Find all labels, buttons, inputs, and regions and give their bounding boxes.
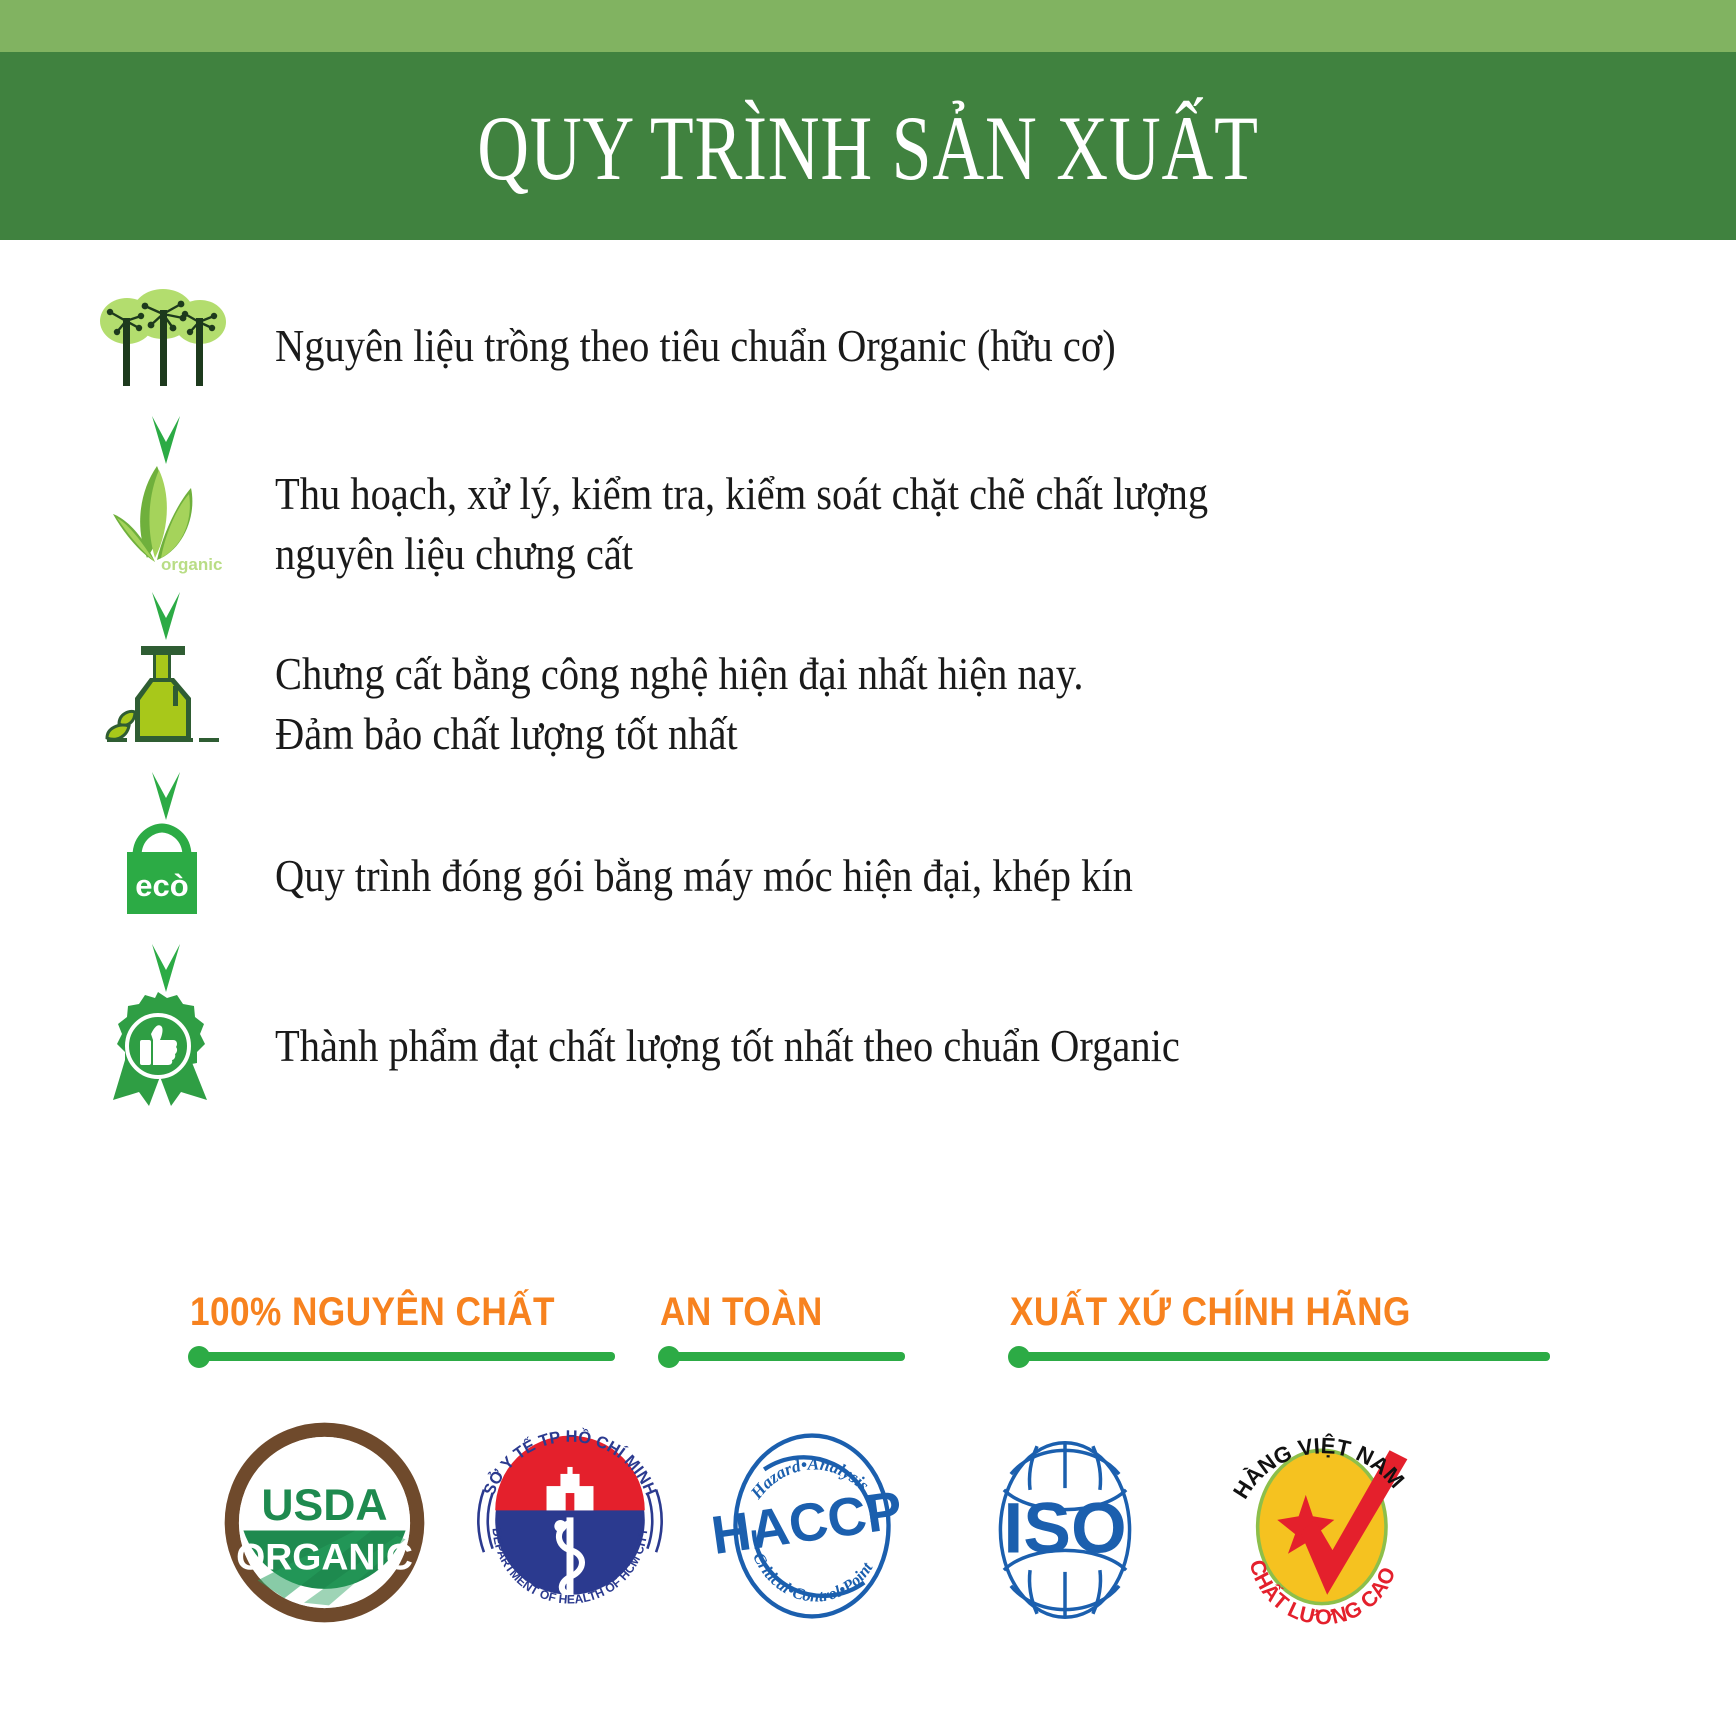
feature-item-3: XUẤT XỨ CHÍNH HÃNG	[1010, 1290, 1550, 1334]
chevron-down-arrow-3	[148, 768, 184, 820]
three-trees-icon	[95, 288, 230, 408]
process-step-4-text: Quy trình đóng gói bằng máy móc hiện đại…	[275, 846, 1489, 906]
iso-logo: ISO	[960, 1434, 1170, 1631]
feature-item-2: AN TOÀN	[660, 1290, 905, 1334]
eco-bag-icon: ecò	[95, 818, 230, 938]
feature-label-2: AN TOÀN	[660, 1290, 876, 1334]
organic-leaves-icon: organic	[95, 458, 230, 578]
feature-highlights: 100% NGUYÊN CHẤT AN TOÀN XUẤT XỨ CHÍNH H…	[0, 1290, 1736, 1400]
page-title: QUY TRÌNH SẢN XUẤT	[191, 102, 1545, 194]
feature-rule-3	[1010, 1352, 1550, 1361]
top-accent-bar	[0, 0, 1736, 52]
hang-viet-nam-chat-luong-cao-logo: HÀNG VIỆT NAM CHẤT LƯỢNG CAO	[1222, 1420, 1427, 1630]
feature-dot-3	[1008, 1346, 1030, 1368]
chevron-down-arrow-1	[148, 412, 184, 464]
eco-bag-label: ecò	[135, 868, 188, 903]
process-step-3-text: Chưng cất bằng công nghệ hiện đại nhất h…	[275, 644, 1489, 764]
chevron-down-arrow-2	[148, 588, 184, 640]
process-step-2-text: Thu hoạch, xử lý, kiểm tra, kiểm soát ch…	[275, 464, 1489, 584]
usda-organic-line1: USDA	[261, 1481, 387, 1530]
department-of-health-hcm-logo: SỞ Y TẾ TP HỒ CHÍ MINH DEPARTMENT OF HEA…	[470, 1420, 670, 1625]
feature-label-1: 100% NGUYÊN CHẤT	[190, 1290, 564, 1334]
feature-dot-1	[188, 1346, 210, 1368]
iso-main-text: ISO	[1003, 1489, 1126, 1569]
production-process-infographic: QUY TRÌNH SẢN XUẤT	[0, 0, 1736, 1724]
organic-leaves-label: organic	[161, 555, 222, 574]
feature-item-1: 100% NGUYÊN CHẤT	[190, 1290, 615, 1334]
feature-dot-2	[658, 1346, 680, 1368]
process-step-5-text: Thành phẩm đạt chất lượng tốt nhất theo …	[275, 1016, 1489, 1076]
feature-rule-1	[190, 1352, 615, 1361]
feature-rule-2	[660, 1352, 905, 1361]
usda-organic-logo: USDA ORGANIC	[222, 1420, 427, 1630]
haccp-logo: Hazard•Analysis Critical•Control•Point H…	[712, 1426, 912, 1631]
process-steps: Nguyên liệu trồng theo tiêu chuẩn Organi…	[0, 240, 1736, 1170]
distillation-bottle-icon	[95, 638, 230, 758]
usda-organic-line2: ORGANIC	[236, 1536, 413, 1578]
feature-label-3: XUẤT XỨ CHÍNH HÃNG	[1010, 1290, 1485, 1334]
thumbs-up-badge-icon	[95, 988, 230, 1108]
header-band: QUY TRÌNH SẢN XUẤT	[0, 52, 1736, 240]
chevron-down-arrow-4	[148, 940, 184, 992]
certification-logos: USDA ORGANIC	[0, 1420, 1736, 1670]
process-step-1-text: Nguyên liệu trồng theo tiêu chuẩn Organi…	[275, 316, 1489, 376]
